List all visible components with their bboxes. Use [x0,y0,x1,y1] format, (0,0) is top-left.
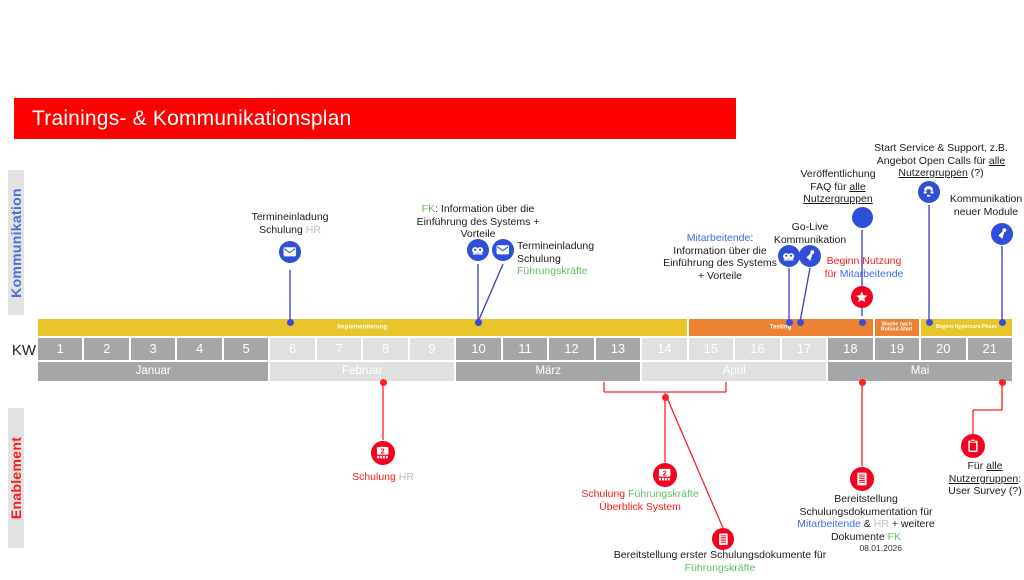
callout-line: Überblick System [581,501,698,514]
callout-line: Dokumente FK [797,531,934,544]
callout-segment: & [861,518,874,530]
callout-segment: Angebot Open Calls für [877,155,989,167]
callout-line: Mitarbeitende & HR + weitere [797,518,934,531]
callout-line: Für alle [948,460,1022,473]
callout-line: Bereitstellung erster Schulungsdokumente… [614,549,826,562]
callout-segment: Bereitstellung [834,493,898,505]
callout-line: Kommunikation [774,234,846,247]
callout-text-faq-veroeffentlichung: VeröffentlichungFAQ für alleNutzergruppe… [800,168,875,206]
callout-line: für Mitarbeitende [825,268,904,281]
callout-line: Termineinladung [251,211,328,224]
callout-segment: Mitarbeitende [797,518,861,530]
callout-segment: Schulung [517,253,561,265]
callout-segment: Nutzergruppen [898,167,967,179]
callout-line: Start Service & Support, z.B. [874,142,1008,155]
callout-line: Bereitstellung [797,493,934,506]
callout-segment: + Vorteile [698,270,742,282]
callout-segment: Kommunikation [774,234,846,246]
callout-segment: Schulungsdokumentation für [799,506,932,518]
callout-line: Schulung HR [352,471,414,484]
callout-text-beginn-nutzung: Beginn Nutzungfür Mitarbeitende [825,255,904,280]
callout-line: neuer Module [950,206,1022,219]
callout-text-termineinladung-hr: TermineinladungSchulung HR [251,211,328,236]
callout-segment: HR [306,224,321,236]
callout-segment: HR [399,471,414,483]
callout-segment: : [1018,473,1021,485]
callout-segment: Start Service & Support, z.B. [874,142,1008,154]
callout-segment: alle [849,181,865,193]
callout-segment: FK [888,531,901,543]
callout-segment: Termineinladung [517,240,594,252]
callout-line: Schulung HR [251,224,328,237]
callout-segment: alle [986,460,1002,472]
callout-line: Einführung des Systems [663,257,777,270]
callout-text-start-service-support: Start Service & Support, z.B.Angebot Ope… [874,142,1008,180]
callout-segment: HR [874,518,889,530]
callout-text-bereitstellung-erster-dokumente: Bereitstellung erster Schulungsdokumente… [614,549,826,574]
callout-line: Schulung [517,253,594,266]
callout-segment: Überblick System [599,501,681,513]
callout-segment: Go-Live [792,221,829,233]
callout-line: Nutzergruppen (?) [874,167,1008,180]
callout-segment: Schulung [581,488,628,500]
callout-line: FAQ für alle [800,181,875,194]
callout-segment: Vorteile [460,228,495,240]
callout-text-go-live-kommunikation: Go-LiveKommunikation [774,221,846,246]
callout-segment: Schulung [352,471,399,483]
callout-line: Vorteile [417,228,540,241]
callout-segment: für [825,268,840,280]
callout-line: User Survey (?) [948,485,1022,498]
callout-line: Einführung des Systems + [417,216,540,229]
callout-line: Angebot Open Calls für alle [874,155,1008,168]
callout-text-user-survey: Für alleNutzergruppen:User Survey (?) [948,460,1022,498]
callout-line: Go-Live [774,221,846,234]
callout-line: Beginn Nutzung [825,255,904,268]
callout-line: Veröffentlichung [800,168,875,181]
callout-segment: Veröffentlichung [800,168,875,180]
callout-segment: Mitarbeitende [840,268,904,280]
callout-line: Führungskräfte [614,562,826,575]
callout-segment: Dokumente [831,531,888,543]
callout-segment: alle [989,155,1005,167]
callout-segment: Information über die [673,245,766,257]
callout-segment: Schulung [259,224,306,236]
callout-segment: (?) [968,167,984,179]
callout-segment: Für [967,460,986,472]
callout-line: Nutzergruppen [800,193,875,206]
callout-segment: Einführung des Systems [663,257,777,269]
callout-segment: Beginn Nutzung [827,255,902,267]
callout-line: Schulungsdokumentation für [797,506,934,519]
callout-text-fk-information: FK: Information über dieEinführung des S… [417,203,540,241]
callout-line: Nutzergruppen: [948,473,1022,486]
callout-text-bereitstellung-schulungsdokumentation: BereitstellungSchulungsdokumentation für… [797,493,934,543]
callout-segment: + weitere [889,518,935,530]
callout-line: + Vorteile [663,270,777,283]
callout-text-schulung-fuehrungskraefte: Schulung FührungskräfteÜberblick System [581,488,698,513]
callout-segment: Einführung des Systems + [417,216,540,228]
callout-segment: Führungskräfte [685,562,756,574]
date-stamp: 08.01.2026 [859,543,902,553]
callout-text-schulung-hr: Schulung HR [352,471,414,484]
callout-segment: Bereitstellung erster Schulungsdokumente… [614,549,826,561]
callout-line: Mitarbeitende: [663,232,777,245]
callout-segment: Kommunikation [950,193,1022,205]
callout-text-mitarbeitende-information: Mitarbeitende:Information über dieEinfüh… [663,232,777,282]
callout-line: Termineinladung [517,240,594,253]
caption-layer: TermineinladungSchulung HRFK: Informatio… [0,0,1024,580]
callout-segment: Mitarbeitende [687,232,751,244]
callout-line: Kommunikation [950,193,1022,206]
slide-canvas: Trainings- & Kommunikationsplan Kommunik… [0,0,1024,580]
callout-segment: Nutzergruppen [949,473,1018,485]
callout-segment: Nutzergruppen [803,193,872,205]
callout-segment: FAQ für [810,181,849,193]
callout-text-kommunikation-neuer-module: Kommunikationneuer Module [950,193,1022,218]
callout-segment: neuer Module [954,206,1018,218]
callout-text-termineinladung-fk: TermineinladungSchulungFührungskräfte [517,240,594,278]
callout-segment: FK [422,203,435,215]
callout-segment: User Survey (?) [948,485,1022,497]
callout-segment: Termineinladung [251,211,328,223]
callout-line: FK: Information über die [417,203,540,216]
callout-segment: Führungskräfte [517,265,588,277]
callout-segment: : Information über die [435,203,534,215]
callout-line: Information über die [663,245,777,258]
callout-segment: Führungskräfte [628,488,699,500]
callout-line: Schulung Führungskräfte [581,488,698,501]
callout-segment: : [750,232,753,244]
callout-line: Führungskräfte [517,265,594,278]
